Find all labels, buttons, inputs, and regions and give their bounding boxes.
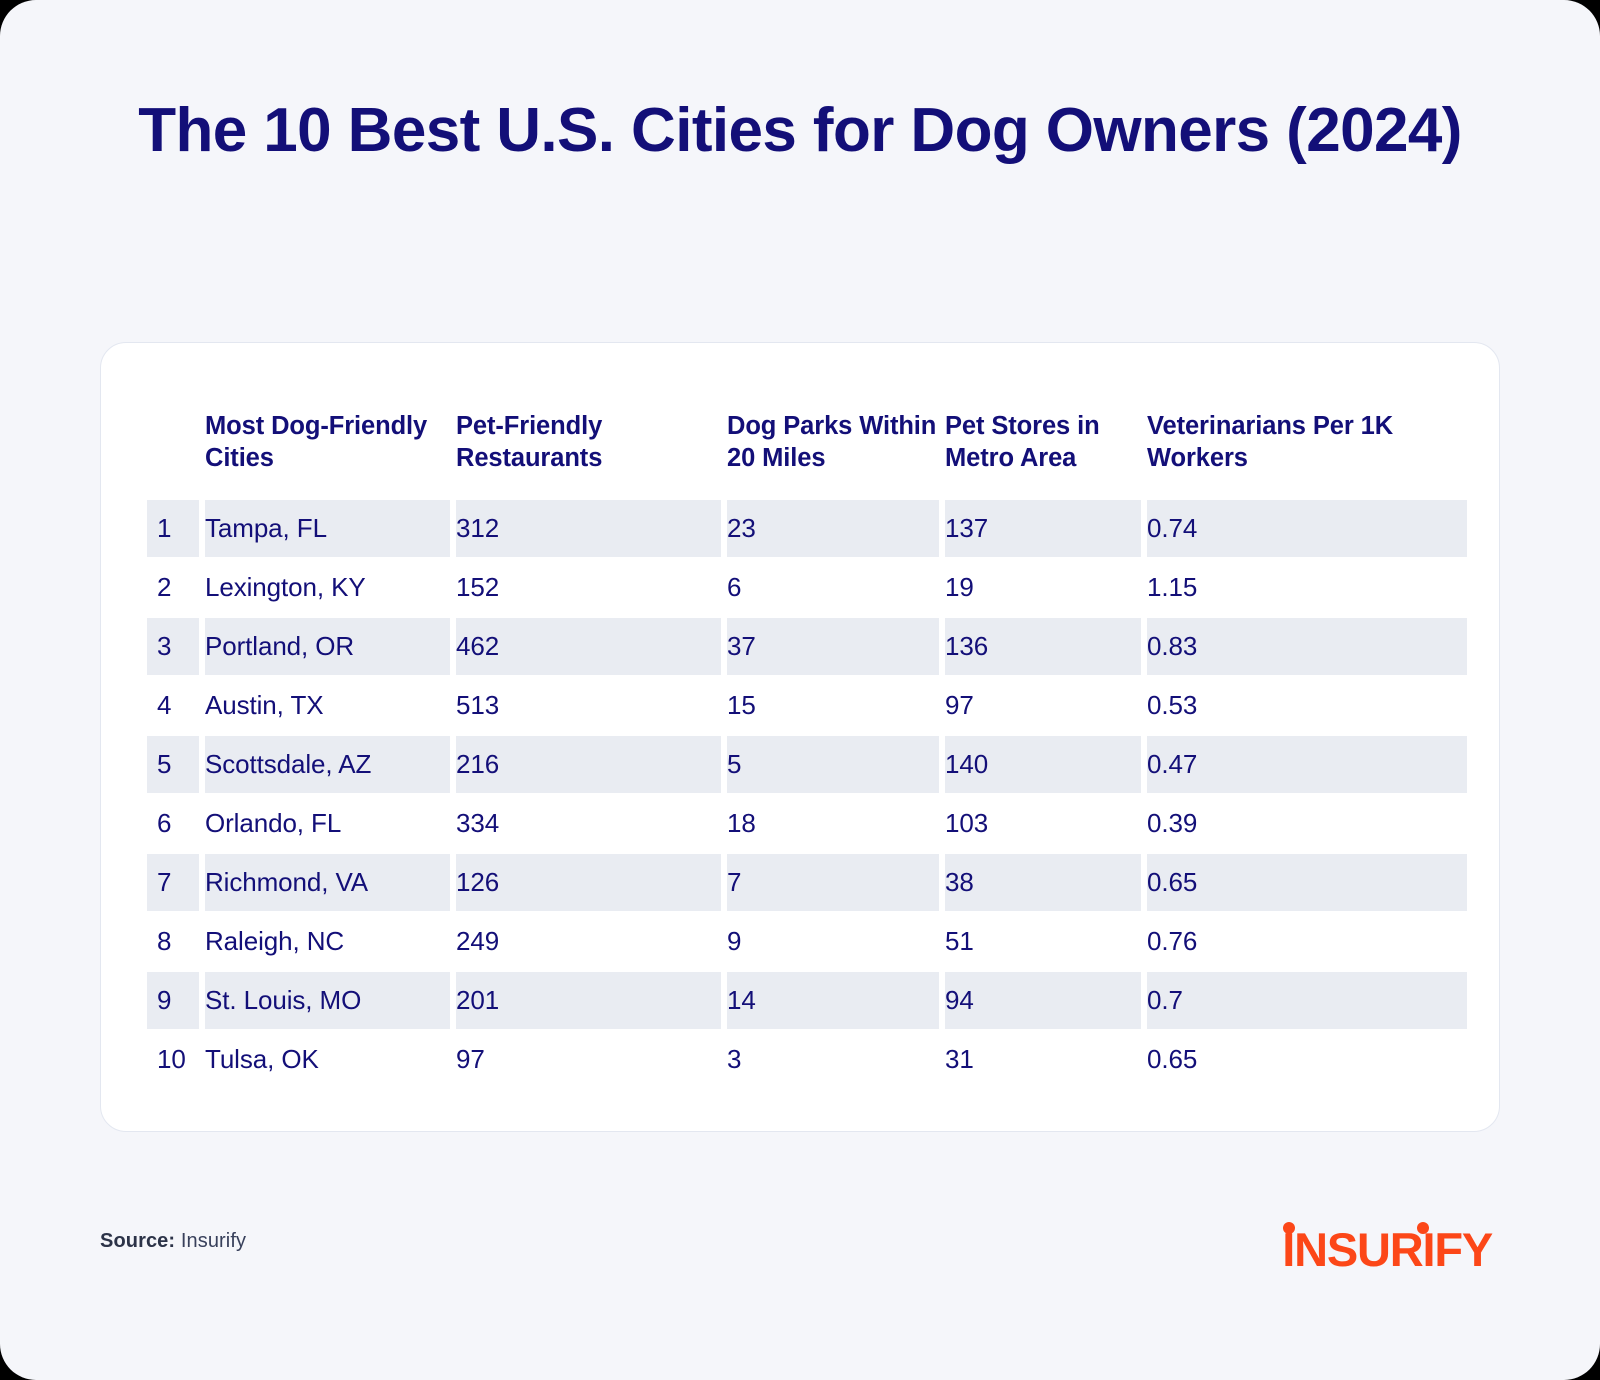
cell-rank: 1 [147,500,199,557]
cell-city: Austin, TX [205,677,450,734]
cell-dog-parks: 6 [727,559,939,616]
cell-pet-stores: 97 [945,677,1141,734]
cell-restaurants: 513 [456,677,721,734]
cell-city: Tampa, FL [205,500,450,557]
cell-dog-parks: 37 [727,618,939,675]
table-header: Most Dog-Friendly Cities Pet-Friendly Re… [147,386,1467,498]
table-row: 6Orlando, FL334181030.39 [147,795,1467,852]
column-header-restaurants: Pet-Friendly Restaurants [456,386,721,498]
infographic-page: The 10 Best U.S. Cities for Dog Owners (… [0,0,1600,1380]
cell-rank: 7 [147,854,199,911]
cell-dog-parks: 7 [727,854,939,911]
cell-city: Raleigh, NC [205,913,450,970]
footer: Source: Insurify INSURIFY [100,1218,1500,1288]
cell-city: Portland, OR [205,618,450,675]
column-header-dog-parks: Dog Parks Within 20 Miles [727,386,939,498]
cell-restaurants: 97 [456,1031,721,1088]
insurify-logo: INSURIFY [1282,1218,1492,1280]
cell-rank: 3 [147,618,199,675]
cell-city: Orlando, FL [205,795,450,852]
cell-veterinarians: 0.74 [1147,500,1467,557]
cell-city: Scottsdale, AZ [205,736,450,793]
cell-pet-stores: 19 [945,559,1141,616]
cell-restaurants: 334 [456,795,721,852]
cell-pet-stores: 137 [945,500,1141,557]
cell-pet-stores: 38 [945,854,1141,911]
column-header-rank [147,386,199,498]
cell-rank: 6 [147,795,199,852]
cell-rank: 4 [147,677,199,734]
cell-city: Richmond, VA [205,854,450,911]
cell-veterinarians: 0.83 [1147,618,1467,675]
cell-pet-stores: 51 [945,913,1141,970]
cell-rank: 9 [147,972,199,1029]
column-header-city: Most Dog-Friendly Cities [205,386,450,498]
cell-rank: 8 [147,913,199,970]
table-card: Most Dog-Friendly Cities Pet-Friendly Re… [100,342,1500,1132]
cell-veterinarians: 0.53 [1147,677,1467,734]
cell-veterinarians: 0.7 [1147,972,1467,1029]
page-title: The 10 Best U.S. Cities for Dog Owners (… [120,96,1480,166]
cell-dog-parks: 3 [727,1031,939,1088]
cell-veterinarians: 0.39 [1147,795,1467,852]
cell-pet-stores: 94 [945,972,1141,1029]
cell-veterinarians: 0.47 [1147,736,1467,793]
table-row: 9St. Louis, MO20114940.7 [147,972,1467,1029]
table-row: 7Richmond, VA1267380.65 [147,854,1467,911]
cell-dog-parks: 9 [727,913,939,970]
logo-i-dot-first-icon [1283,1222,1295,1234]
cell-pet-stores: 140 [945,736,1141,793]
cell-dog-parks: 5 [727,736,939,793]
cell-pet-stores: 31 [945,1031,1141,1088]
cell-restaurants: 249 [456,913,721,970]
insurify-wordmark: INSURIFY [1282,1223,1492,1276]
table-row: 10Tulsa, OK973310.65 [147,1031,1467,1088]
table-row: 2Lexington, KY1526191.15 [147,559,1467,616]
cell-city: Lexington, KY [205,559,450,616]
title-container: The 10 Best U.S. Cities for Dog Owners (… [0,0,1600,166]
cell-pet-stores: 103 [945,795,1141,852]
table-row: 3Portland, OR462371360.83 [147,618,1467,675]
table-row: 8Raleigh, NC2499510.76 [147,913,1467,970]
source-value: Insurify [181,1230,246,1252]
column-header-pet-stores: Pet Stores in Metro Area [945,386,1141,498]
cell-rank: 2 [147,559,199,616]
cell-restaurants: 462 [456,618,721,675]
cell-veterinarians: 1.15 [1147,559,1467,616]
source-attribution: Source: Insurify [100,1230,246,1253]
column-header-veterinarians: Veterinarians Per 1K Workers [1147,386,1467,498]
cell-dog-parks: 14 [727,972,939,1029]
table-header-row: Most Dog-Friendly Cities Pet-Friendly Re… [147,386,1467,498]
cell-restaurants: 201 [456,972,721,1029]
table-row: 4Austin, TX51315970.53 [147,677,1467,734]
cell-rank: 10 [147,1031,199,1088]
cell-restaurants: 312 [456,500,721,557]
cell-rank: 5 [147,736,199,793]
table-body: 1Tampa, FL312231370.742Lexington, KY1526… [147,500,1467,1088]
cell-veterinarians: 0.65 [1147,1031,1467,1088]
cell-city: Tulsa, OK [205,1031,450,1088]
cell-restaurants: 126 [456,854,721,911]
cell-dog-parks: 18 [727,795,939,852]
table-row: 5Scottsdale, AZ21651400.47 [147,736,1467,793]
cell-veterinarians: 0.65 [1147,854,1467,911]
cell-veterinarians: 0.76 [1147,913,1467,970]
source-label: Source: [100,1230,175,1252]
cell-city: St. Louis, MO [205,972,450,1029]
insurify-logo-text: INSURIFY [1282,1226,1492,1273]
rankings-table: Most Dog-Friendly Cities Pet-Friendly Re… [141,384,1473,1090]
table-row: 1Tampa, FL312231370.74 [147,500,1467,557]
cell-pet-stores: 136 [945,618,1141,675]
logo-i-dot-second-icon [1417,1222,1429,1234]
cell-restaurants: 152 [456,559,721,616]
cell-dog-parks: 23 [727,500,939,557]
cell-dog-parks: 15 [727,677,939,734]
cell-restaurants: 216 [456,736,721,793]
